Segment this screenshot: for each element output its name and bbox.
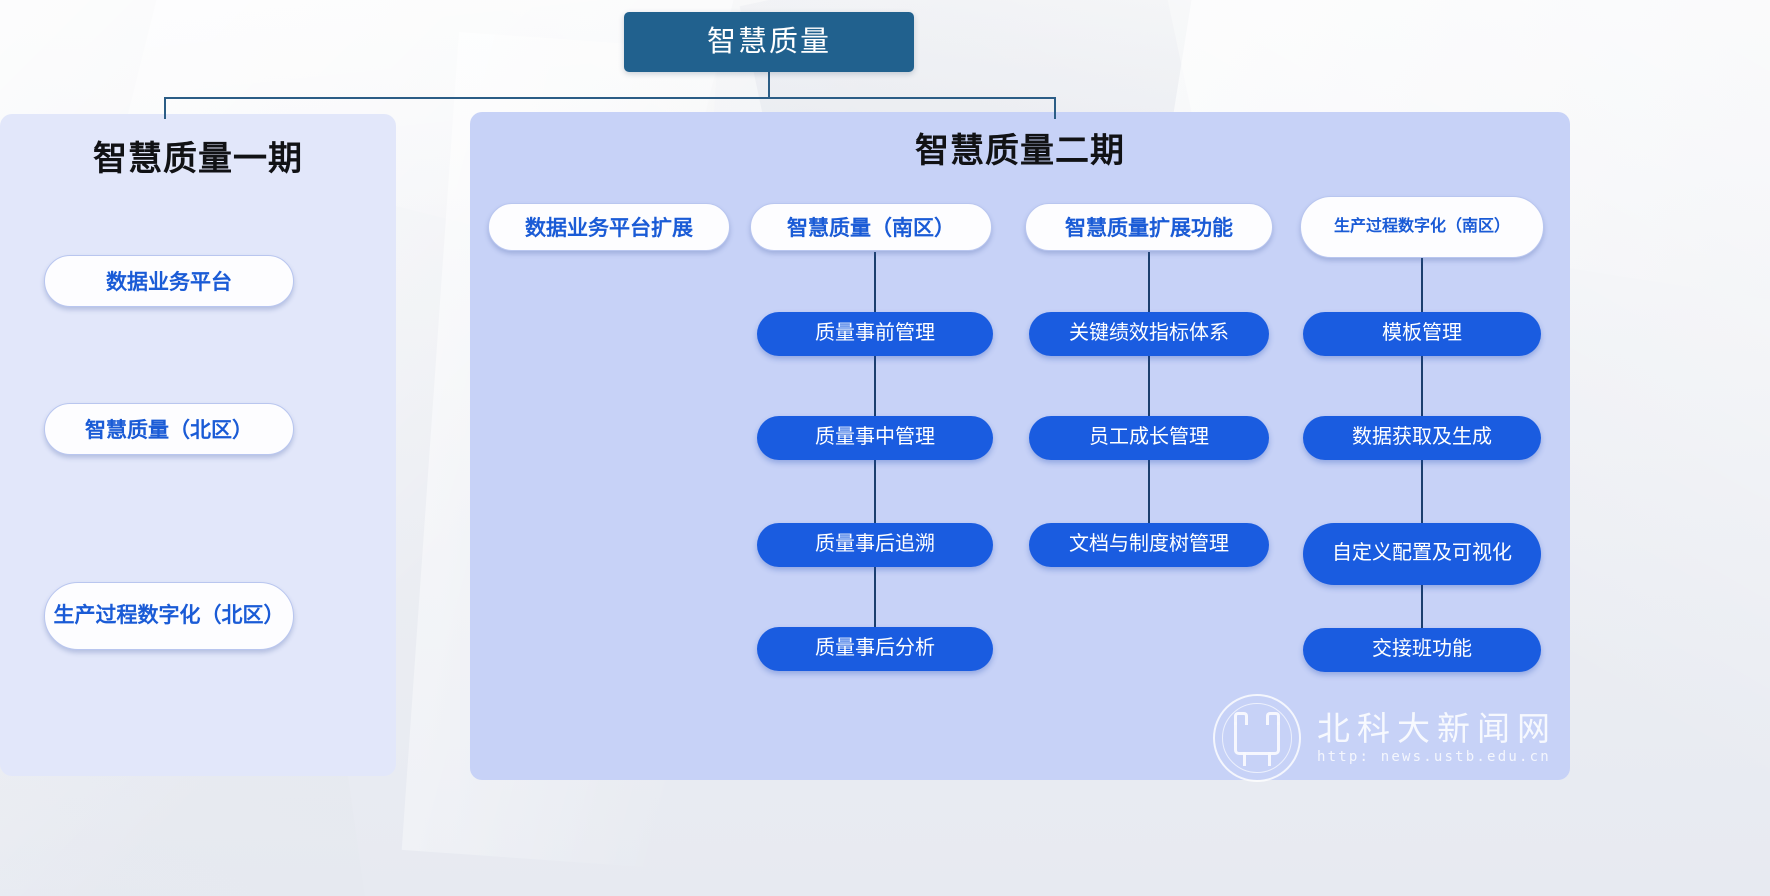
leaf-quality-post-analysis[interactable]: 质量事后分析 (757, 627, 993, 671)
diagram-canvas: 智慧质量 智慧质量一期 数据业务平台 智慧质量（北区） 生产过程数字化（北区） … (0, 0, 1770, 896)
node-smart-quality-north[interactable]: 智慧质量（北区） (44, 403, 294, 455)
leaf-document-and-policy-tree-management[interactable]: 文档与制度树管理 (1029, 523, 1269, 567)
column-header-data-business-platform-extension[interactable]: 数据业务平台扩展 (488, 203, 730, 251)
node-production-digitalization-north[interactable]: 生产过程数字化（北区） (44, 582, 294, 650)
column-header-smart-quality-extended-functions[interactable]: 智慧质量扩展功能 (1025, 203, 1273, 251)
leaf-kpi-system[interactable]: 关键绩效指标体系 (1029, 312, 1269, 356)
leaf-shift-handover-function[interactable]: 交接班功能 (1303, 628, 1541, 672)
phase-two-title: 智慧质量二期 (470, 134, 1570, 168)
root-node-label: 智慧质量 (707, 28, 831, 57)
leaf-quality-post-traceability[interactable]: 质量事后追溯 (757, 523, 993, 567)
column-header-smart-quality-south[interactable]: 智慧质量（南区） (750, 203, 992, 251)
leaf-quality-in-process-management[interactable]: 质量事中管理 (757, 416, 993, 460)
leaf-template-management[interactable]: 模板管理 (1303, 312, 1541, 356)
connector-drop-left (164, 97, 166, 119)
connector-spine-column-3 (1148, 252, 1150, 544)
column-header-production-digitalization-south[interactable]: 生产过程数字化（南区） (1300, 196, 1544, 258)
connector-horizontal-bar (164, 97, 1056, 99)
phase-one-title: 智慧质量一期 (0, 142, 396, 176)
connector-drop-right (1054, 97, 1056, 119)
leaf-quality-pre-management[interactable]: 质量事前管理 (757, 312, 993, 356)
leaf-custom-configuration-and-visualization[interactable]: 自定义配置及可视化 (1303, 523, 1541, 585)
leaf-employee-growth-management[interactable]: 员工成长管理 (1029, 416, 1269, 460)
node-data-business-platform[interactable]: 数据业务平台 (44, 255, 294, 307)
root-node[interactable]: 智慧质量 (624, 12, 914, 72)
connector-root-stem (768, 72, 770, 98)
leaf-data-acquisition-and-generation[interactable]: 数据获取及生成 (1303, 416, 1541, 460)
